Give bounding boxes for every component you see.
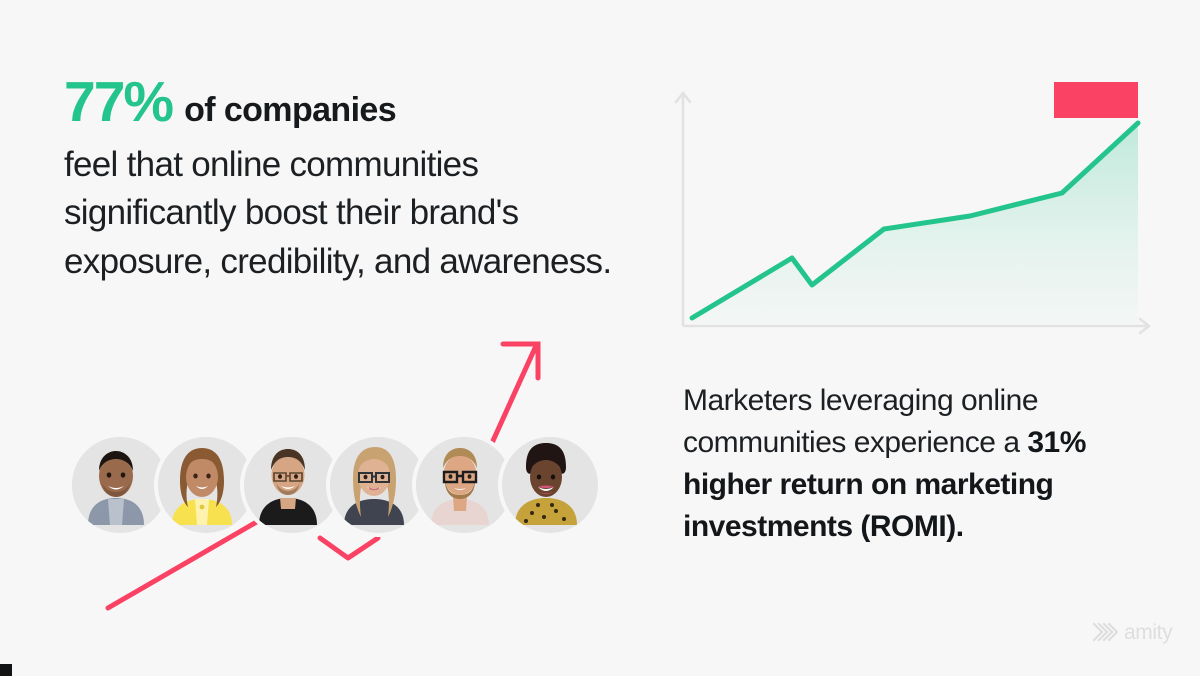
corner-registration-mark xyxy=(0,664,12,676)
growth-chart-svg xyxy=(670,76,1160,344)
left-body-copy: feel that online communities significant… xyxy=(64,141,624,286)
chart-highlight-bar xyxy=(1054,82,1138,118)
amity-chevron-mark-icon xyxy=(1092,620,1118,644)
left-text-panel: 77%of companies feel that online communi… xyxy=(64,74,644,286)
avatar-group xyxy=(68,433,584,537)
right-copy-plain: Marketers leveraging online communities … xyxy=(683,384,1038,459)
amity-wordmark: amity xyxy=(1124,622,1172,643)
headline-suffix: of companies xyxy=(184,91,396,129)
headline: 77%of companies xyxy=(64,74,644,131)
avatar-person-6 xyxy=(498,433,602,537)
people-trend-block xyxy=(60,330,620,630)
stat-percentage: 77% xyxy=(64,70,172,134)
infographic-canvas: 77%of companies feel that online communi… xyxy=(0,0,1200,676)
right-body-copy: Marketers leveraging online communities … xyxy=(683,380,1158,548)
amity-logo: amity xyxy=(1092,620,1172,644)
growth-chart xyxy=(670,76,1160,344)
